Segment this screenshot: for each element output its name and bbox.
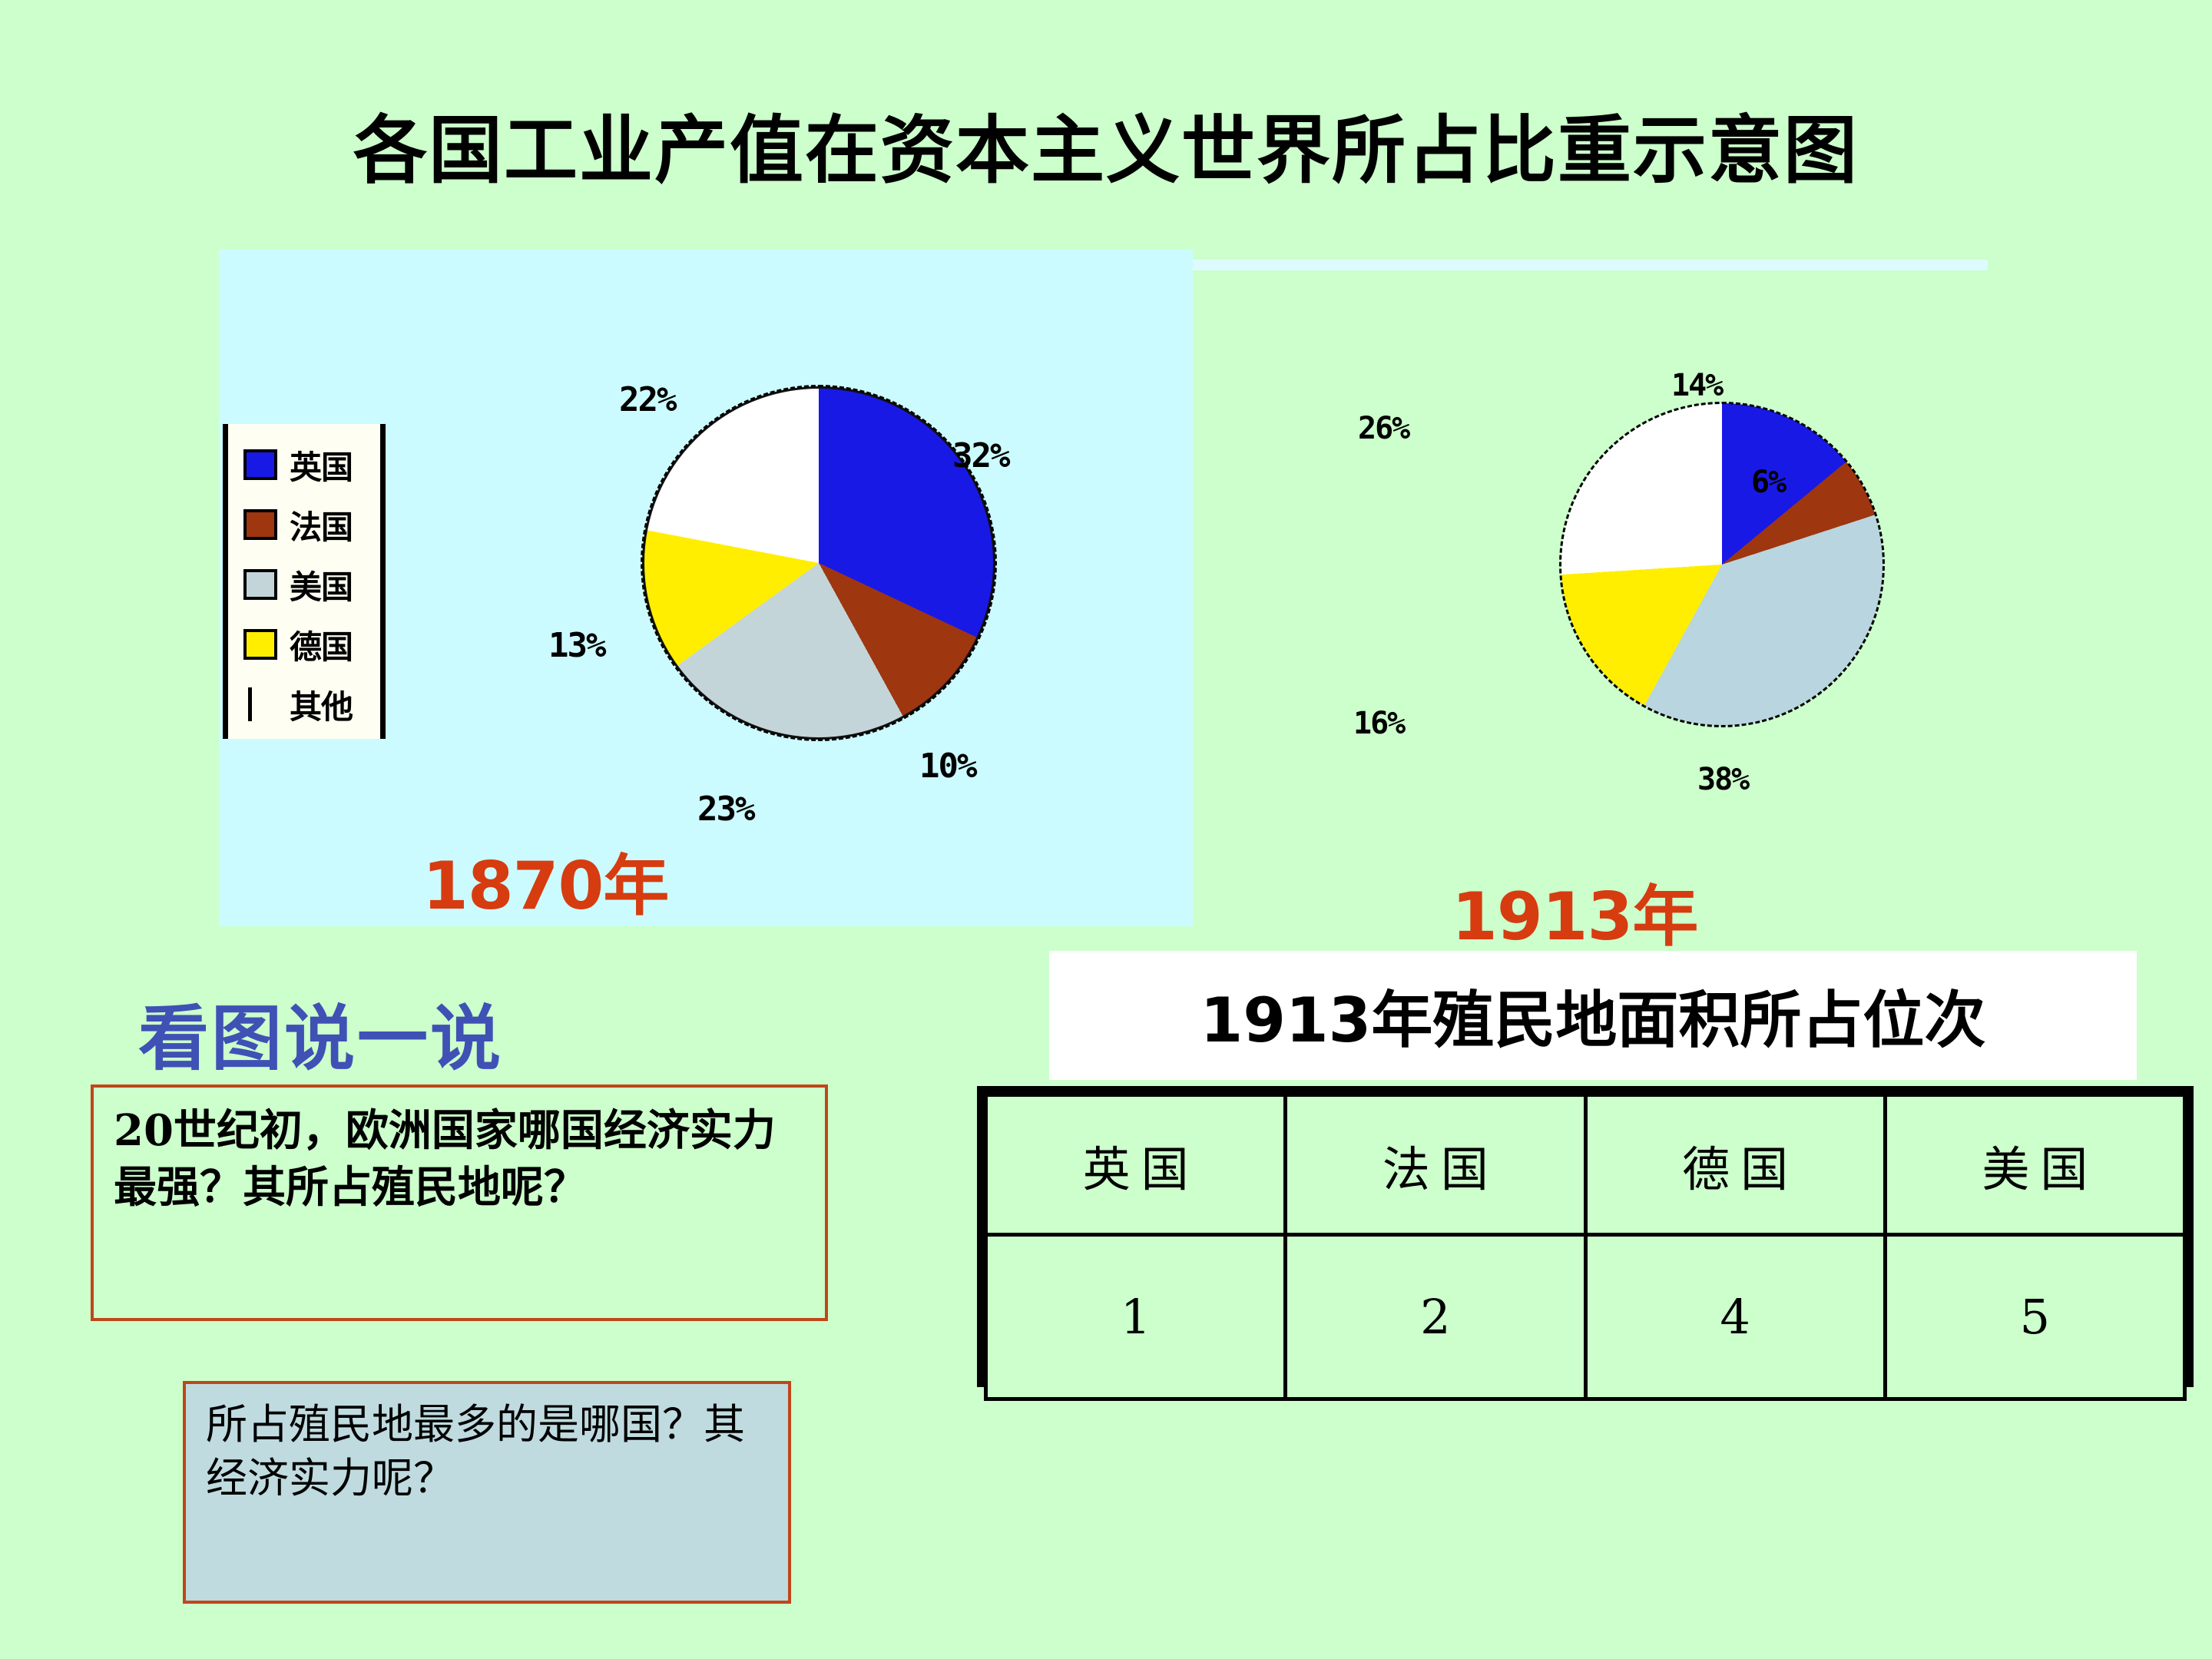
legend-swatch-blue-square xyxy=(243,449,277,480)
legend-item-usa: 美国 xyxy=(243,555,380,614)
question-box-primary: 20世纪初，欧洲国家哪国经济实力最强？其所占殖民地呢？ xyxy=(91,1084,828,1321)
table-cell-country-uk: 英国 xyxy=(986,1095,1286,1235)
slide-root: 各国工业产值在资本主义世界所占比重示意图 英国 法国 美国 德国 其他 32% … xyxy=(0,0,2212,1659)
caption-1870: 1870年 xyxy=(422,832,668,928)
legend-label-usa: 美国 xyxy=(290,561,353,608)
legend-item-france: 法国 xyxy=(243,495,380,555)
legend-item-germany: 德国 xyxy=(243,614,380,674)
rank-table-heading-text: 1913年殖民地面积所占位次 xyxy=(1200,971,1986,1060)
legend-swatch-brown-square xyxy=(243,509,277,540)
table-cell-country-usa: 美国 xyxy=(1885,1095,2184,1235)
pie-1913-label-germany: 16% xyxy=(1353,706,1404,741)
legend-item-uk: 英国 xyxy=(243,435,380,495)
pie-1870-label-uk: 32% xyxy=(952,436,1008,475)
prompt-heading: 看图说一说 xyxy=(138,982,503,1084)
pie-1913-label-other: 26% xyxy=(1358,411,1409,446)
pie-1913-label-usa: 38% xyxy=(1697,762,1748,797)
chart-legend: 英国 法国 美国 德国 其他 xyxy=(223,424,386,739)
table-row-ranks: 1 2 4 5 xyxy=(986,1235,2185,1399)
legend-swatch-yellow-square xyxy=(243,629,277,660)
legend-swatch-light-gray-square xyxy=(243,569,277,600)
table-cell-rank-france: 2 xyxy=(1286,1235,1585,1399)
table-cell-country-germany: 德国 xyxy=(1585,1095,1885,1235)
rank-table-heading: 1913年殖民地面积所占位次 xyxy=(1049,951,2137,1080)
caption-1913: 1913年 xyxy=(1452,863,1697,959)
legend-label-uk: 英国 xyxy=(290,442,353,488)
pie-1870-label-germany: 13% xyxy=(548,626,604,665)
pie-1913-label-france: 6% xyxy=(1751,465,1785,500)
legend-label-france: 法国 xyxy=(290,502,353,548)
pie-chart-1870 xyxy=(642,386,995,740)
pie-1870-label-france: 10% xyxy=(919,747,975,786)
table-cell-rank-usa: 5 xyxy=(1885,1235,2184,1399)
question-text-2: 所占殖民地最多的是哪国？其经济实力呢？ xyxy=(206,1398,774,1505)
rank-table: 英国 法国 德国 美国 1 2 4 5 xyxy=(977,1086,2194,1387)
page-title: 各国工业产值在资本主义世界所占比重示意图 xyxy=(0,91,2212,197)
pie-1870-label-other: 22% xyxy=(619,380,675,419)
question-box-secondary: 所占殖民地最多的是哪国？其经济实力呢？ xyxy=(183,1381,791,1604)
legend-label-other: 其他 xyxy=(290,681,353,728)
table-row-headers: 英国 法国 德国 美国 xyxy=(986,1095,2185,1235)
pie-chart-1913 xyxy=(1561,403,1883,726)
panel-divider-rule xyxy=(1193,260,1988,270)
pie-1870-label-usa: 23% xyxy=(697,790,753,829)
table-cell-rank-uk: 1 xyxy=(986,1235,1286,1399)
legend-swatch-line-mark xyxy=(243,689,277,720)
pie-1913-label-uk: 14% xyxy=(1671,368,1722,403)
table-cell-rank-germany: 4 xyxy=(1585,1235,1885,1399)
legend-item-other: 其他 xyxy=(243,674,380,734)
table-cell-country-france: 法国 xyxy=(1286,1095,1585,1235)
question-text-1: 20世纪初，欧洲国家哪国经济实力最强？其所占殖民地呢？ xyxy=(114,1103,806,1217)
legend-label-germany: 德国 xyxy=(290,621,353,668)
